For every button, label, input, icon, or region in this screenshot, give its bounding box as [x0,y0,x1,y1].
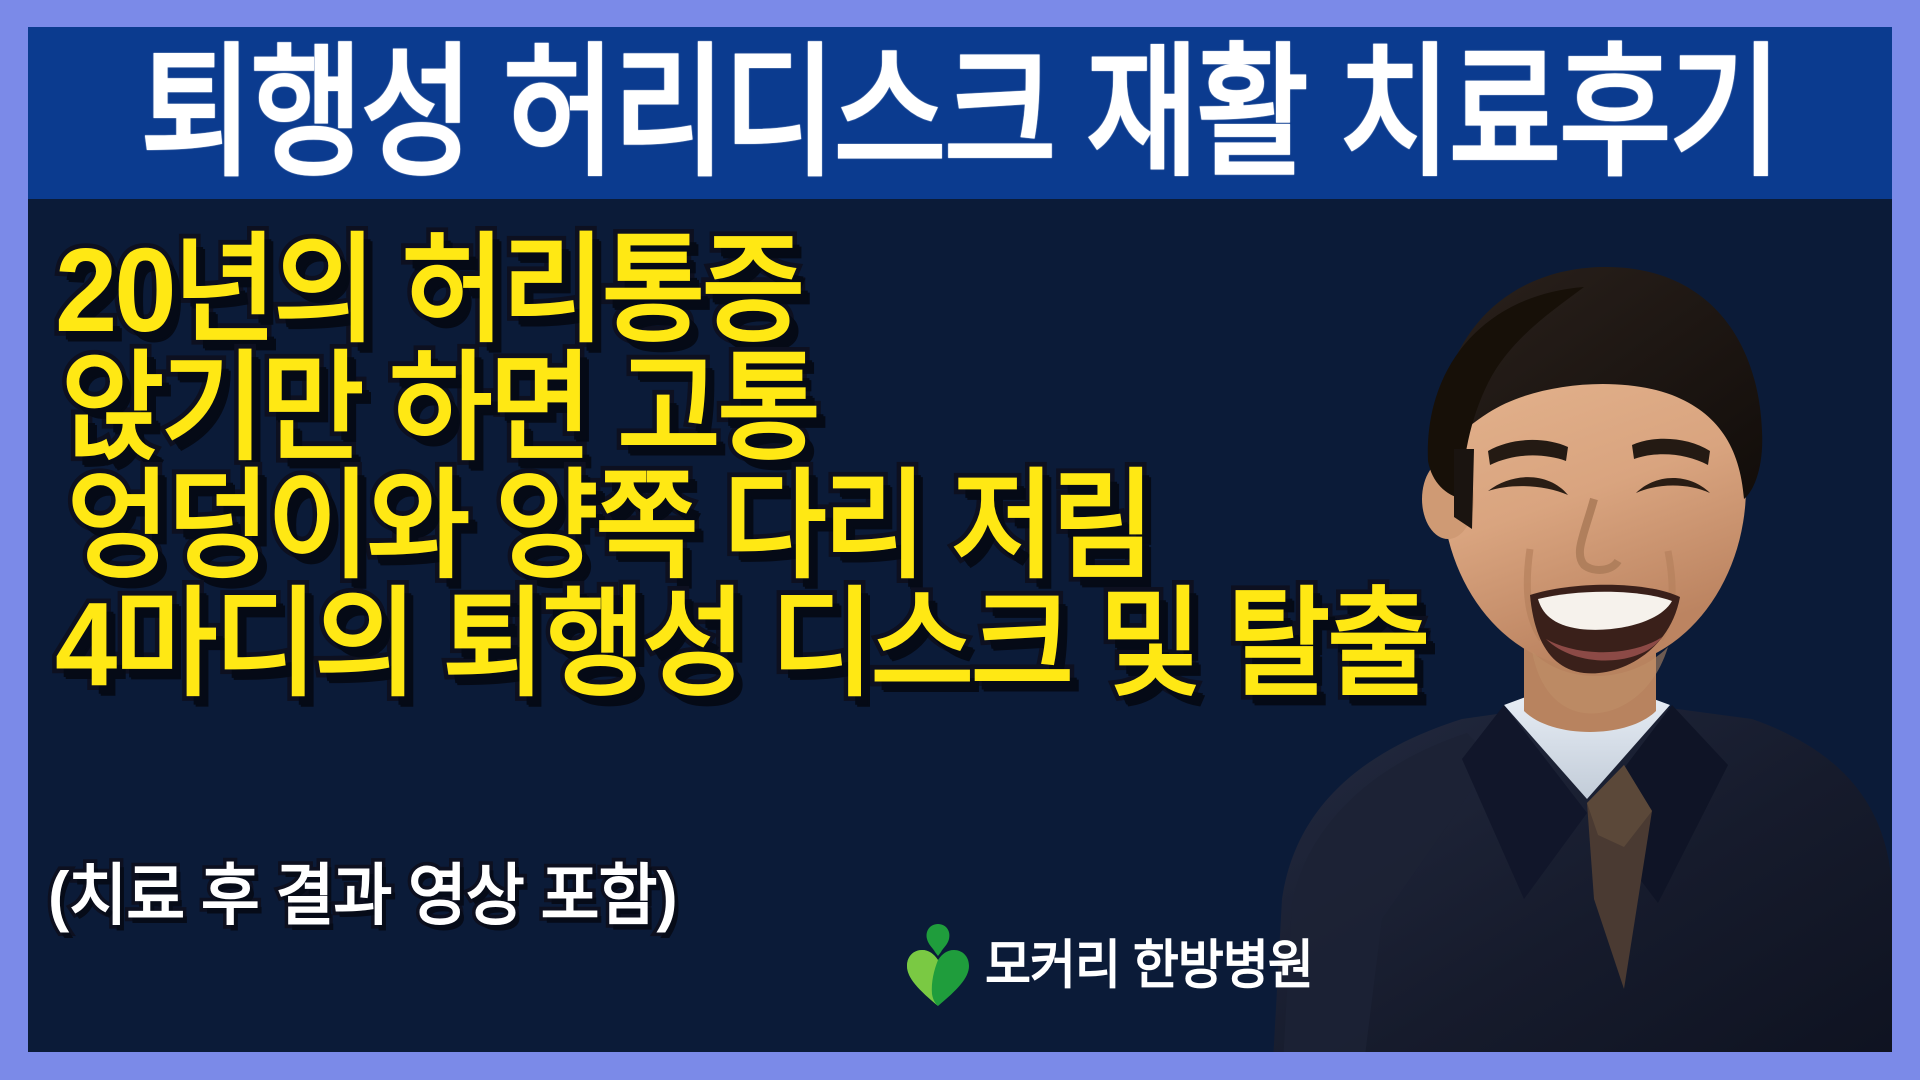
hospital-logo: 모커리 한방병원 [905,922,1313,1008]
hospital-name: 모커리 한방병원 [985,939,1313,992]
title-banner: 퇴행성 허리디스크 재활 치료후기 [28,27,1892,199]
green-heart-person-icon [905,922,971,1008]
headline-line-4: 4마디의 퇴행성 디스크 및 탈출 [55,582,1555,707]
headline-line-3: 엉덩이와 양쪽 다리 저림 [67,464,1555,589]
bottom-note: (치료 후 결과 영상 포함) [48,862,677,929]
video-thumbnail: 퇴행성 허리디스크 재활 치료후기 20년의 허리통증 앉기만 하면 고통 엉덩… [0,0,1920,1080]
headline-block: 20년의 허리통증 앉기만 하면 고통 엉덩이와 양쪽 다리 저림 4마디의 퇴… [55,228,1555,700]
headline-line-1: 20년의 허리통증 [55,228,1555,353]
headline-line-2: 앉기만 하면 고통 [61,346,1555,471]
page-title: 퇴행성 허리디스크 재활 치료후기 [140,41,1779,185]
